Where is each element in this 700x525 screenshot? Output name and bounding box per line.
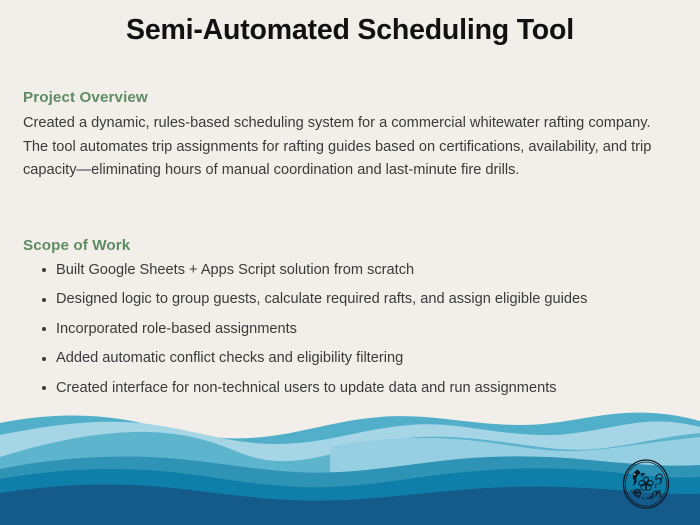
scope-of-work-heading: Scope of Work [23,236,663,256]
list-item: Created interface for non-technical user… [23,378,663,400]
flower-icon [639,477,653,491]
bullet-icon [42,327,46,331]
page-title: Semi-Automated Scheduling Tool [0,11,700,49]
brand-logo: MAGPIE & SQUIRREL [622,459,670,509]
slide-canvas: Semi-Automated Scheduling Tool Project O… [0,0,700,525]
project-overview-section: Project Overview Created a dynamic, rule… [23,88,663,183]
list-item-label: Created interface for non-technical user… [56,380,557,396]
list-item-label: Added automatic conflict checks and elig… [56,350,403,366]
list-item-label: Built Google Sheets + Apps Script soluti… [56,262,414,278]
list-item: Designed logic to group guests, calculat… [23,289,663,311]
list-item: Built Google Sheets + Apps Script soluti… [23,260,663,282]
list-item: Incorporated role-based assignments [23,319,663,341]
bullet-icon [42,268,46,272]
slide-content: Project Overview Created a dynamic, rule… [23,88,663,407]
list-item-label: Designed logic to group guests, calculat… [56,291,587,307]
list-item: Added automatic conflict checks and elig… [23,348,663,370]
wave-decoration [0,405,700,525]
project-overview-body: Created a dynamic, rules-based schedulin… [23,112,655,183]
scope-of-work-section: Scope of Work Built Google Sheets + Apps… [23,236,663,400]
project-overview-heading: Project Overview [23,88,663,108]
section-spacer [23,183,663,236]
bullet-icon [42,386,46,390]
squirrel-icon [656,474,663,488]
bullet-icon [42,357,46,361]
bullet-icon [42,298,46,302]
scope-of-work-list: Built Google Sheets + Apps Script soluti… [23,260,663,400]
list-item-label: Incorporated role-based assignments [56,321,297,337]
